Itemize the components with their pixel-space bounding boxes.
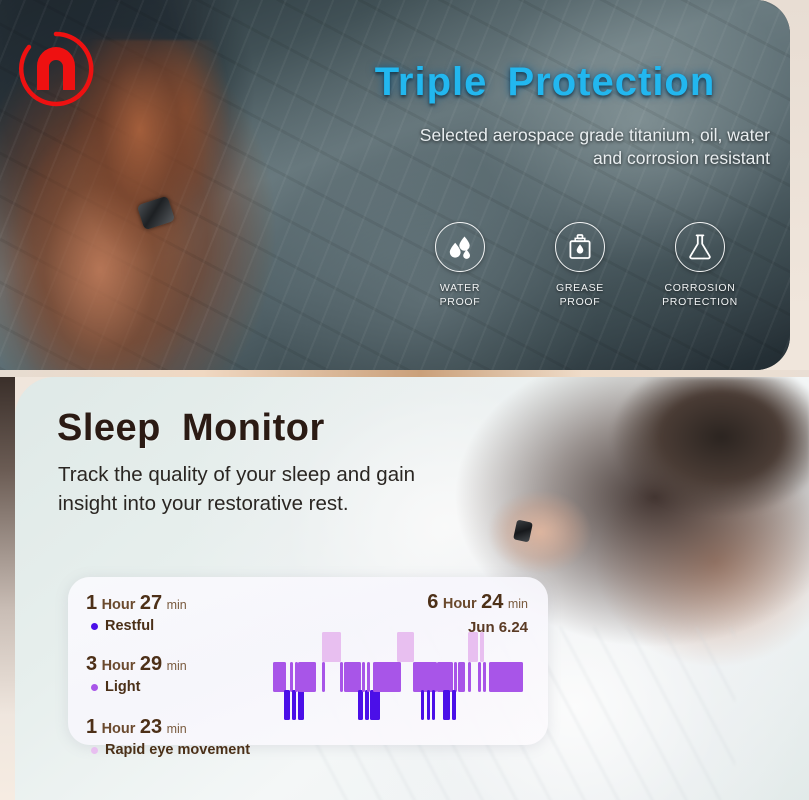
hypnogram-segment-restful xyxy=(370,690,380,720)
rem-minutes: 23 xyxy=(140,716,162,738)
hypnogram-segment-light xyxy=(489,662,523,692)
sleep-stage-legend: 1 Hour 27 min Restful 3 Hour 29 xyxy=(86,591,276,764)
hypnogram-segment-light xyxy=(373,662,401,692)
legend-dot-restful xyxy=(91,623,98,630)
legend-dot-light xyxy=(91,684,98,691)
light-duration: 3 Hour 29 min xyxy=(86,652,276,677)
left-edge-shadow xyxy=(0,377,15,800)
panel-divider xyxy=(0,370,809,377)
feature-water-proof: WATER PROOF xyxy=(410,222,510,309)
light-hours: 3 xyxy=(86,653,97,675)
water-drops-icon xyxy=(435,222,485,272)
light-minutes: 29 xyxy=(140,653,162,675)
restful-duration: 1 Hour 27 min xyxy=(86,591,276,616)
flask-icon xyxy=(675,222,725,272)
light-hours-unit: Hour xyxy=(102,658,136,674)
legend-label-rem: Rapid eye movement xyxy=(91,742,276,758)
legend-text-restful: Restful xyxy=(105,618,154,634)
total-hours-unit: Hour xyxy=(443,596,477,612)
feature-corrosion-protection: CORROSION PROTECTION xyxy=(650,222,750,309)
hypnogram-segment-restful xyxy=(358,690,363,720)
hypnogram-segment-light xyxy=(483,662,486,692)
hypnogram-segment-restful xyxy=(365,690,369,720)
feature-badges: WATER PROOF GREASE PROOF xyxy=(410,222,750,309)
hypnogram-segment-restful xyxy=(443,690,450,720)
restful-minutes-unit: min xyxy=(167,598,187,612)
sleep-stats-card: 1 Hour 27 min Restful 3 Hour 29 xyxy=(68,577,548,745)
hypnogram-segment-light xyxy=(298,662,316,692)
feature-grease-proof-line-2: PROOF xyxy=(560,296,601,308)
top-subtitle-line-2: and corrosion resistant xyxy=(300,147,770,170)
feature-corrosion-protection-line-1: CORROSION xyxy=(664,282,735,294)
rem-hours-unit: Hour xyxy=(102,721,136,737)
hypnogram-segment-light xyxy=(340,662,343,692)
hypnogram-segment-light xyxy=(468,662,471,692)
legend-dot-rem xyxy=(91,747,98,754)
legend-label-light: Light xyxy=(91,679,276,695)
rem-duration: 1 Hour 23 min xyxy=(86,715,276,740)
hypnogram-segment-restful xyxy=(284,690,290,720)
hypnogram-segment-light xyxy=(458,662,465,692)
section-description-line-1: Track the quality of your sleep and gain xyxy=(58,460,488,489)
triple-protection-panel: Triple Protection Selected aerospace gra… xyxy=(0,0,790,370)
feature-water-proof-line-1: WATER xyxy=(440,282,480,294)
hypnogram-segment-restful xyxy=(432,690,435,720)
legend-text-rem: Rapid eye movement xyxy=(105,742,250,758)
hypnogram-segment-light xyxy=(362,662,365,692)
hypnogram-segment-rem xyxy=(468,632,478,662)
hypnogram-segment-light xyxy=(367,662,370,692)
sleeper-hair xyxy=(611,377,809,527)
hypnogram-segment-restful xyxy=(292,690,296,720)
sleeper-hand xyxy=(485,487,595,577)
hypnogram-segment-light xyxy=(430,662,432,692)
section-description: Track the quality of your sleep and gain… xyxy=(58,460,488,518)
total-minutes: 24 xyxy=(481,591,503,613)
section-title: Sleep Monitor xyxy=(57,407,325,450)
restful-minutes: 27 xyxy=(140,592,162,614)
legend-label-restful: Restful xyxy=(91,618,276,634)
total-minutes-unit: min xyxy=(508,597,528,611)
hypnogram-segment-restful xyxy=(427,690,430,720)
light-minutes-unit: min xyxy=(167,659,187,673)
oil-can-icon xyxy=(555,222,605,272)
hypnogram-segment-light xyxy=(437,662,453,692)
hypnogram-segment-rem xyxy=(480,632,484,662)
sleep-monitor-panel: Sleep Monitor Track the quality of your … xyxy=(15,377,809,800)
feature-grease-proof-line-1: GREASE xyxy=(556,282,604,294)
rem-minutes-unit: min xyxy=(167,722,187,736)
top-subtitle: Selected aerospace grade titanium, oil, … xyxy=(300,124,770,171)
legend-text-light: Light xyxy=(105,679,140,695)
legend-item-restful: 1 Hour 27 min Restful xyxy=(86,591,276,634)
section-description-line-2: insight into your restorative rest. xyxy=(58,489,488,518)
hypnogram-segment-restful xyxy=(421,690,424,720)
legend-item-light: 3 Hour 29 min Light xyxy=(86,652,276,695)
sleep-hypnogram-chart xyxy=(273,632,523,727)
hypnogram-segment-light xyxy=(454,662,457,692)
rem-hours: 1 xyxy=(86,716,97,738)
hypnogram-segment-light xyxy=(290,662,293,692)
top-subtitle-line-1: Selected aerospace grade titanium, oil, … xyxy=(300,124,770,147)
total-sleep-duration: 6 Hour 24 min xyxy=(427,591,528,614)
total-hours: 6 xyxy=(427,591,438,613)
hypnogram-segment-light xyxy=(344,662,361,692)
hypnogram-segment-rem xyxy=(322,632,341,662)
page-title: Triple Protection xyxy=(330,60,760,105)
hypnogram-segment-rem xyxy=(397,632,414,662)
hypnogram-segment-restful xyxy=(298,690,304,720)
restful-hours: 1 xyxy=(86,592,97,614)
hypnogram-segment-light xyxy=(273,662,286,692)
product-infographic-page: Triple Protection Selected aerospace gra… xyxy=(0,0,809,800)
hypnogram-segment-restful xyxy=(452,690,456,720)
hypnogram-segment-light xyxy=(424,662,427,692)
hypnogram-segment-light xyxy=(478,662,481,692)
sleep-total-block: 6 Hour 24 min Jun 6.24 xyxy=(427,591,528,636)
feature-water-proof-label: WATER PROOF xyxy=(440,281,481,309)
feature-grease-proof-label: GREASE PROOF xyxy=(556,281,604,309)
feature-corrosion-protection-line-2: PROTECTION xyxy=(662,296,738,308)
n-logo xyxy=(15,28,97,110)
legend-item-rem: 1 Hour 23 min Rapid eye movement xyxy=(86,715,276,758)
feature-corrosion-protection-label: CORROSION PROTECTION xyxy=(662,281,738,309)
hypnogram-segment-light xyxy=(322,662,325,692)
feature-grease-proof: GREASE PROOF xyxy=(530,222,630,309)
feature-water-proof-line-2: PROOF xyxy=(440,296,481,308)
restful-hours-unit: Hour xyxy=(102,597,136,613)
